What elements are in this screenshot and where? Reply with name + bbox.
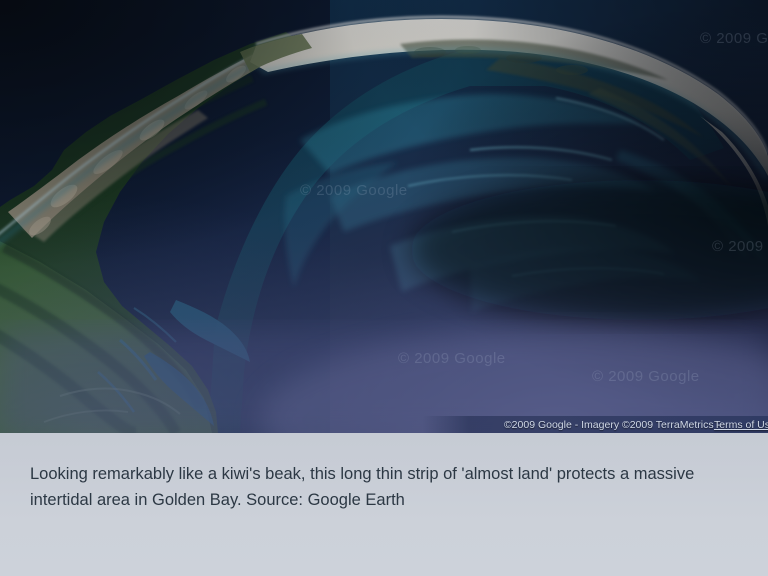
terms-of-use-link[interactable]: Terms of Us: [714, 419, 768, 431]
satellite-map-canvas: [0, 0, 768, 433]
satellite-map-image: © 2009 Google © 2009 Google © 2009 Googl…: [0, 0, 768, 433]
map-attribution-credit: ©2009 Google - Imagery ©2009 TerraMetric…: [504, 419, 720, 431]
page-root: © 2009 Google © 2009 Google © 2009 Googl…: [0, 0, 768, 576]
image-caption: Looking remarkably like a kiwi's beak, t…: [30, 461, 738, 513]
map-attribution-bar: ©2009 Google - Imagery ©2009 TerraMetric…: [0, 416, 768, 433]
caption-panel: Looking remarkably like a kiwi's beak, t…: [0, 433, 768, 576]
